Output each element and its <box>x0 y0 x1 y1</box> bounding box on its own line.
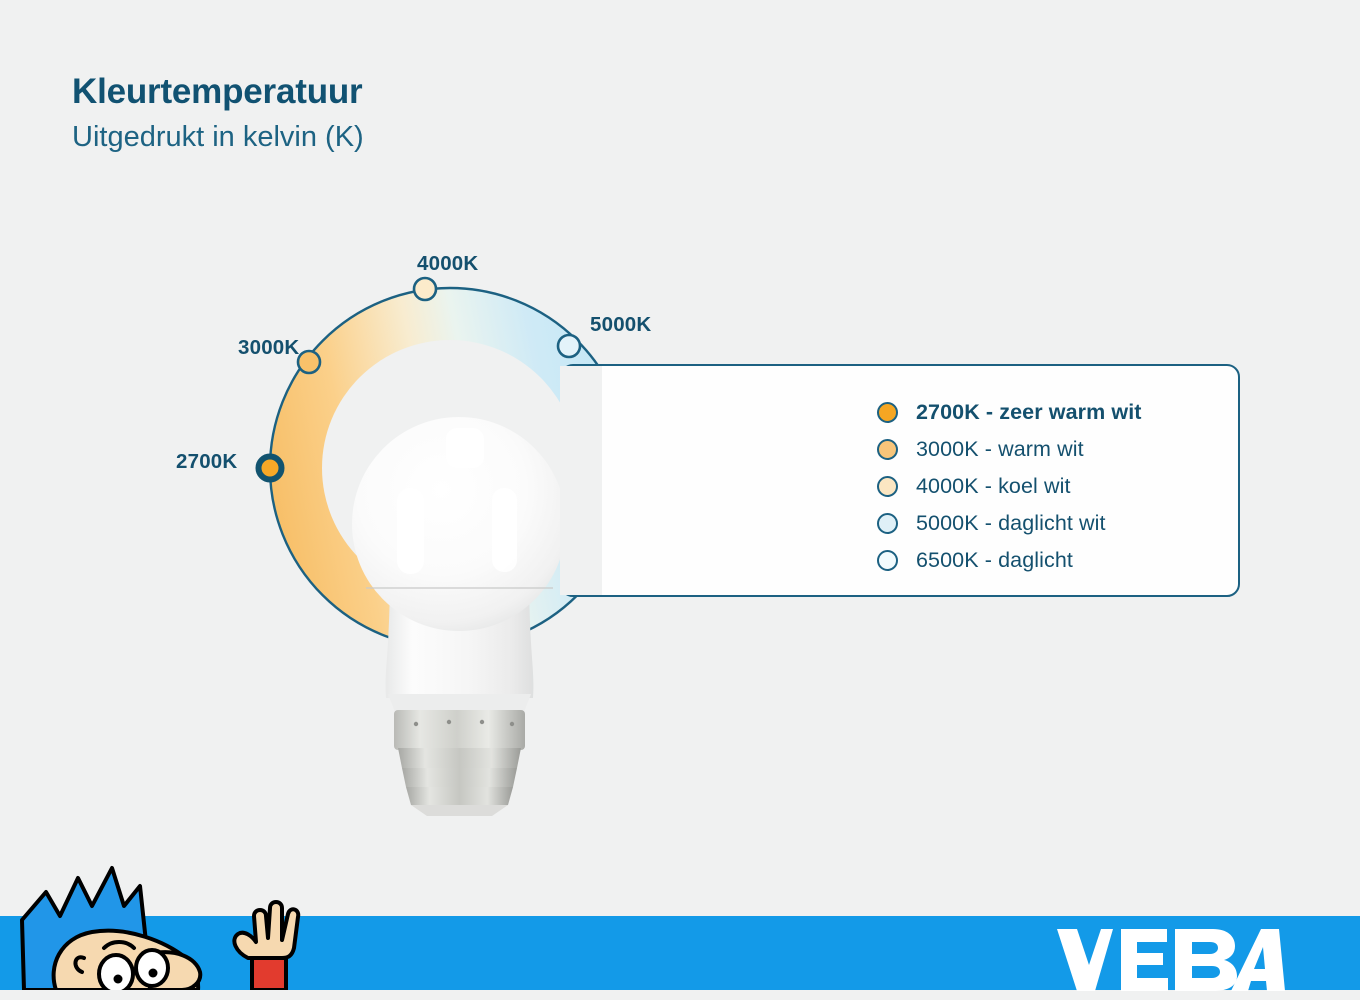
legend-item-3000k[interactable]: 3000K - warm wit <box>877 431 1142 468</box>
legend-label-6500k: 6500K - daglicht <box>916 548 1073 573</box>
legend-item-4000k[interactable]: 4000K - koel wit <box>877 468 1142 505</box>
legend-dot-4000k <box>877 476 898 497</box>
page-title: Kleurtemperatuur <box>72 72 364 112</box>
legend-item-5000k[interactable]: 5000K - daglicht wit <box>877 505 1142 542</box>
page-header: Kleurtemperatuur Uitgedrukt in kelvin (K… <box>72 72 364 155</box>
legend-dot-6500k <box>877 550 898 571</box>
ring-marker-2700k[interactable] <box>259 457 282 480</box>
ring-marker-3000k[interactable] <box>298 351 320 373</box>
legend-item-2700k[interactable]: 2700K - zeer warm wit <box>877 394 1142 431</box>
legend-label-5000k: 5000K - daglicht wit <box>916 511 1106 536</box>
legend-label-2700k: 2700K - zeer warm wit <box>916 400 1142 425</box>
ring-label-2700k: 2700K <box>176 450 237 474</box>
ring-label-5000k: 5000K <box>590 313 651 337</box>
callout-left-mask <box>560 366 602 595</box>
legend-dot-2700k <box>877 402 898 423</box>
mascot-character <box>0 862 330 990</box>
page-subtitle: Uitgedrukt in kelvin (K) <box>72 121 364 154</box>
ring-marker-4000k[interactable] <box>414 278 436 300</box>
ring-label-3000k: 3000K <box>238 336 299 360</box>
weba-logo <box>1055 925 1285 995</box>
legend-label-3000k: 3000K - warm wit <box>916 437 1084 462</box>
legend-list: 2700K - zeer warm wit 3000K - warm wit 4… <box>877 394 1142 579</box>
legend-label-4000k: 4000K - koel wit <box>916 474 1071 499</box>
ring-label-4000k: 4000K <box>417 252 478 276</box>
ring-marker-5000k[interactable] <box>558 335 580 357</box>
legend-item-6500k[interactable]: 6500K - daglicht <box>877 542 1142 579</box>
legend-dot-5000k <box>877 513 898 534</box>
legend-dot-3000k <box>877 439 898 460</box>
infographic-canvas: Kleurtemperatuur Uitgedrukt in kelvin (K… <box>0 0 1360 990</box>
light-bulb-icon <box>342 356 577 816</box>
